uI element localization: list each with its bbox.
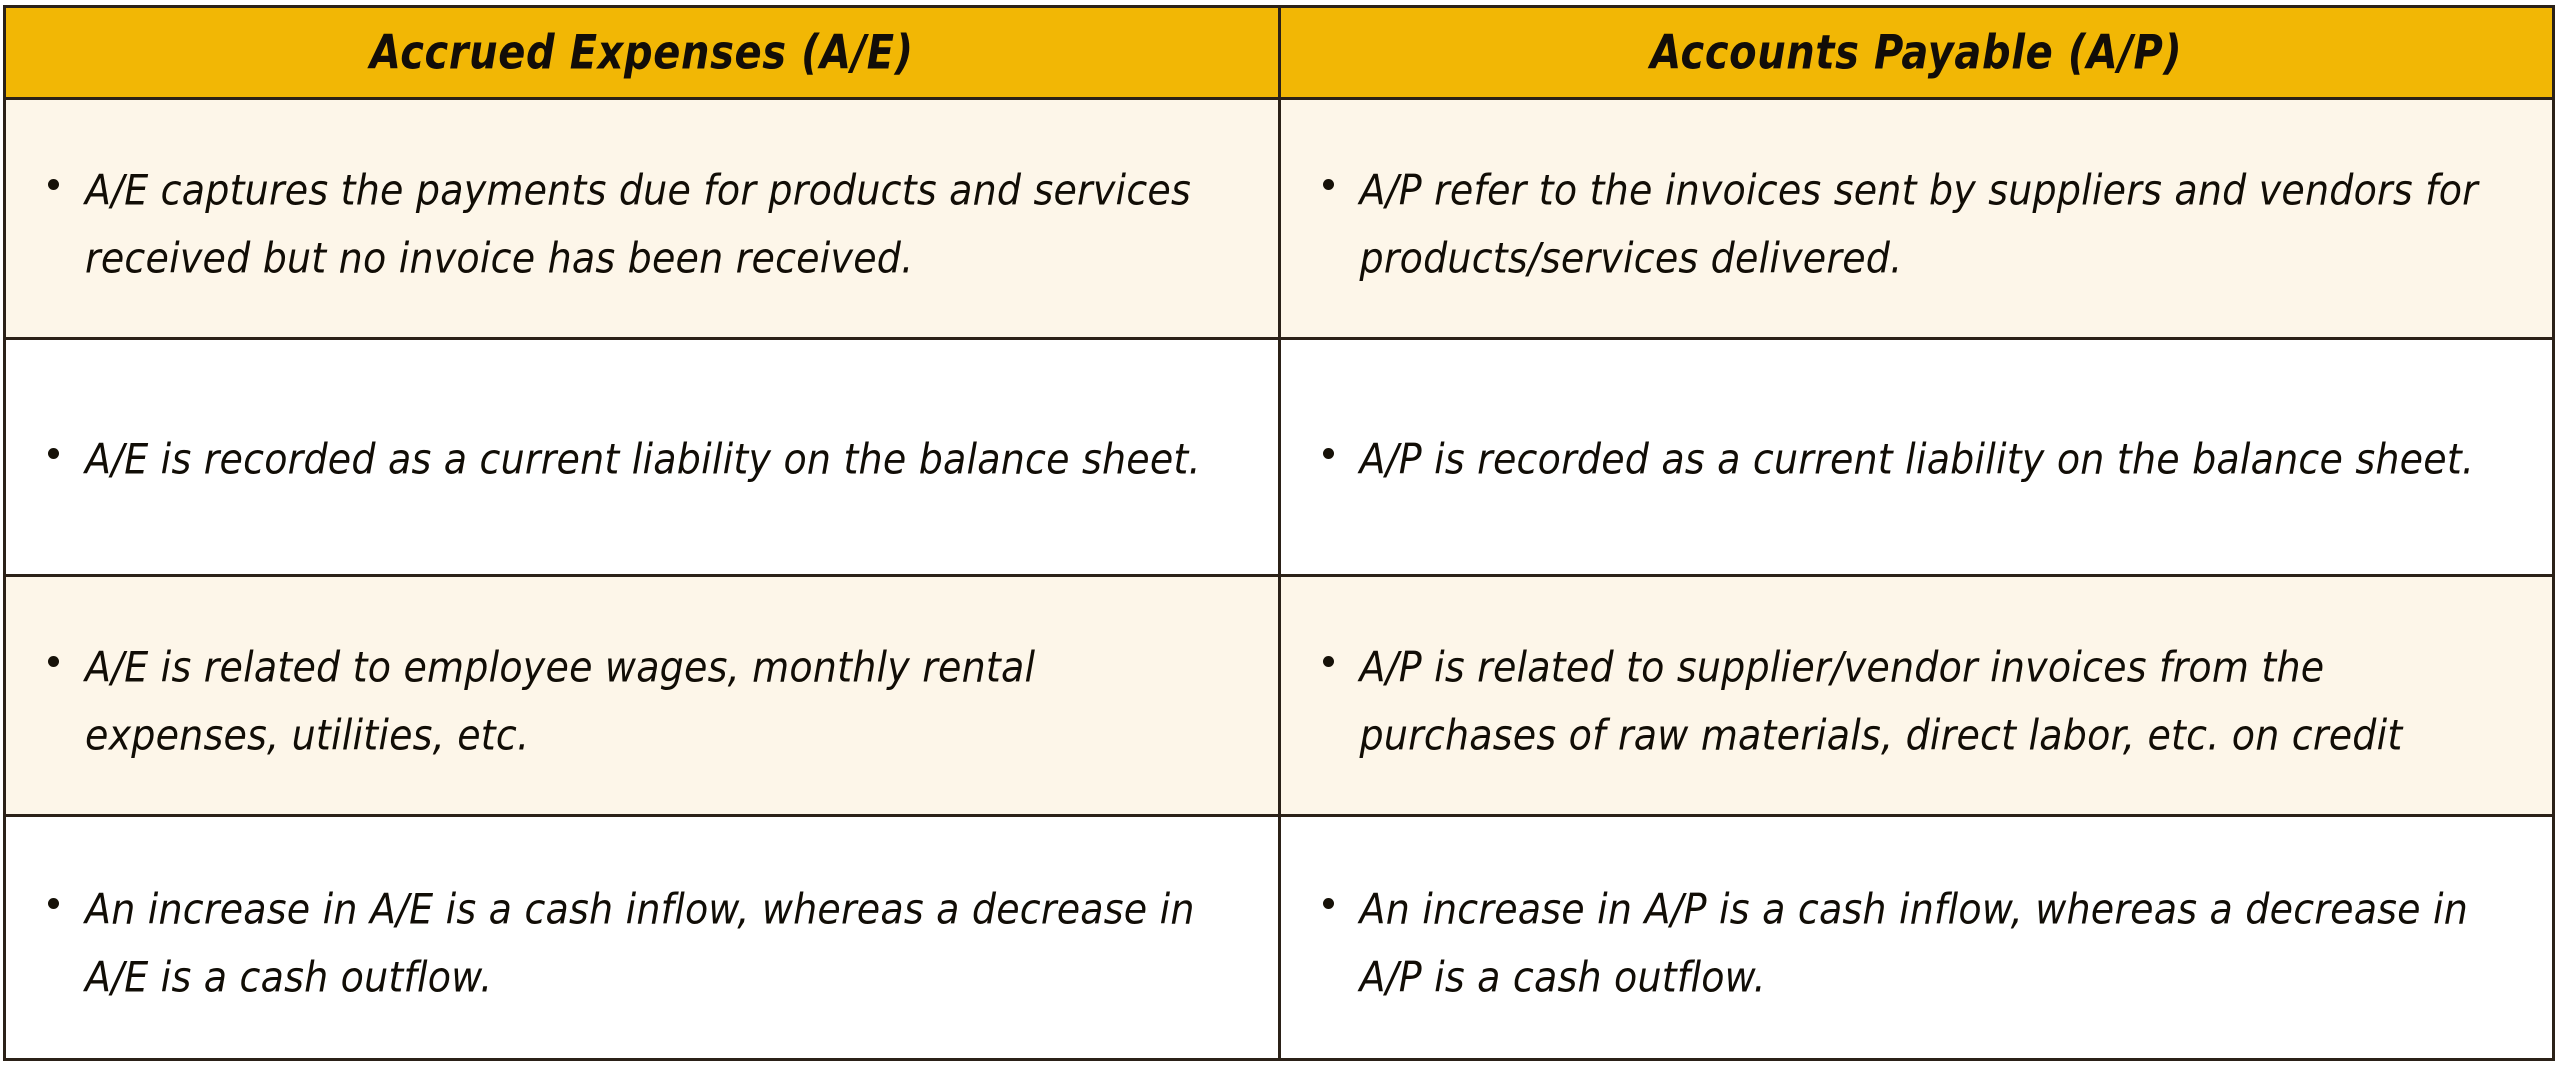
bullet-text: A/P is recorded as a current liability o… [1360,426,2507,494]
column-header-accounts-payable: Accounts Payable (A/P) [1279,7,2554,99]
column-header-accrued-expenses: Accrued Expenses (A/E) [5,7,1280,99]
bullet-text: A/P is related to supplier/vendor invoic… [1360,634,2507,769]
bullet-item: A/E captures the payments due for produc… [48,157,1232,280]
cell-row1-accrued-expenses: A/E captures the payments due for produc… [5,99,1280,339]
bullet-text: A/E is recorded as a current liability o… [85,426,1232,494]
table-body: A/E captures the payments due for produc… [5,99,2554,1060]
table-row: An increase in A/E is a cash inflow, whe… [5,816,2554,1060]
bullet-text: An increase in A/E is a cash inflow, whe… [85,876,1232,1011]
cell-row3-accounts-payable: A/P is related to supplier/vendor invoic… [1279,576,2554,816]
cell-row3-accrued-expenses: A/E is related to employee wages, monthl… [5,576,1280,816]
bullet-item: A/P refer to the invoices sent by suppli… [1323,157,2507,280]
bullet-text: An increase in A/P is a cash inflow, whe… [1360,876,2507,1011]
bullet-text: A/E is related to employee wages, monthl… [85,634,1232,769]
bullet-dot-icon [48,898,59,909]
bullet-text: A/E captures the payments due for produc… [85,157,1232,292]
bullet-text: A/P refer to the invoices sent by suppli… [1360,157,2507,292]
comparison-table: Accrued Expenses (A/E) Accounts Payable … [3,5,2555,1061]
bullet-dot-icon [48,656,59,667]
bullet-item: A/E is related to employee wages, monthl… [48,634,1232,757]
bullet-item: An increase in A/P is a cash inflow, whe… [1323,876,2507,999]
bullet-item: An increase in A/E is a cash inflow, whe… [48,876,1232,999]
bullet-item: A/P is related to supplier/vendor invoic… [1323,634,2507,757]
column-header-label-left: Accrued Expenses (A/E) [18,27,1266,79]
cell-row2-accrued-expenses: A/E is recorded as a current liability o… [5,339,1280,576]
cell-row2-accounts-payable: A/P is recorded as a current liability o… [1279,339,2554,576]
cell-row4-accounts-payable: An increase in A/P is a cash inflow, whe… [1279,816,2554,1060]
bullet-item: A/P is recorded as a current liability o… [1323,426,2507,488]
table-row: A/E captures the payments due for produc… [5,99,2554,339]
cell-row4-accrued-expenses: An increase in A/E is a cash inflow, whe… [5,816,1280,1060]
bullet-item: A/E is recorded as a current liability o… [48,426,1232,488]
cell-row1-accounts-payable: A/P refer to the invoices sent by suppli… [1279,99,2554,339]
bullet-dot-icon [1323,179,1334,190]
bullet-dot-icon [1323,898,1334,909]
bullet-dot-icon [1323,448,1334,459]
table-row: A/E is related to employee wages, monthl… [5,576,2554,816]
table-header-row: Accrued Expenses (A/E) Accounts Payable … [5,7,2554,99]
bullet-dot-icon [48,179,59,190]
bullet-dot-icon [1323,656,1334,667]
column-header-label-right: Accounts Payable (A/P) [1293,27,2541,79]
bullet-dot-icon [48,448,59,459]
table-row: A/E is recorded as a current liability o… [5,339,2554,576]
table-header: Accrued Expenses (A/E) Accounts Payable … [5,7,2554,99]
